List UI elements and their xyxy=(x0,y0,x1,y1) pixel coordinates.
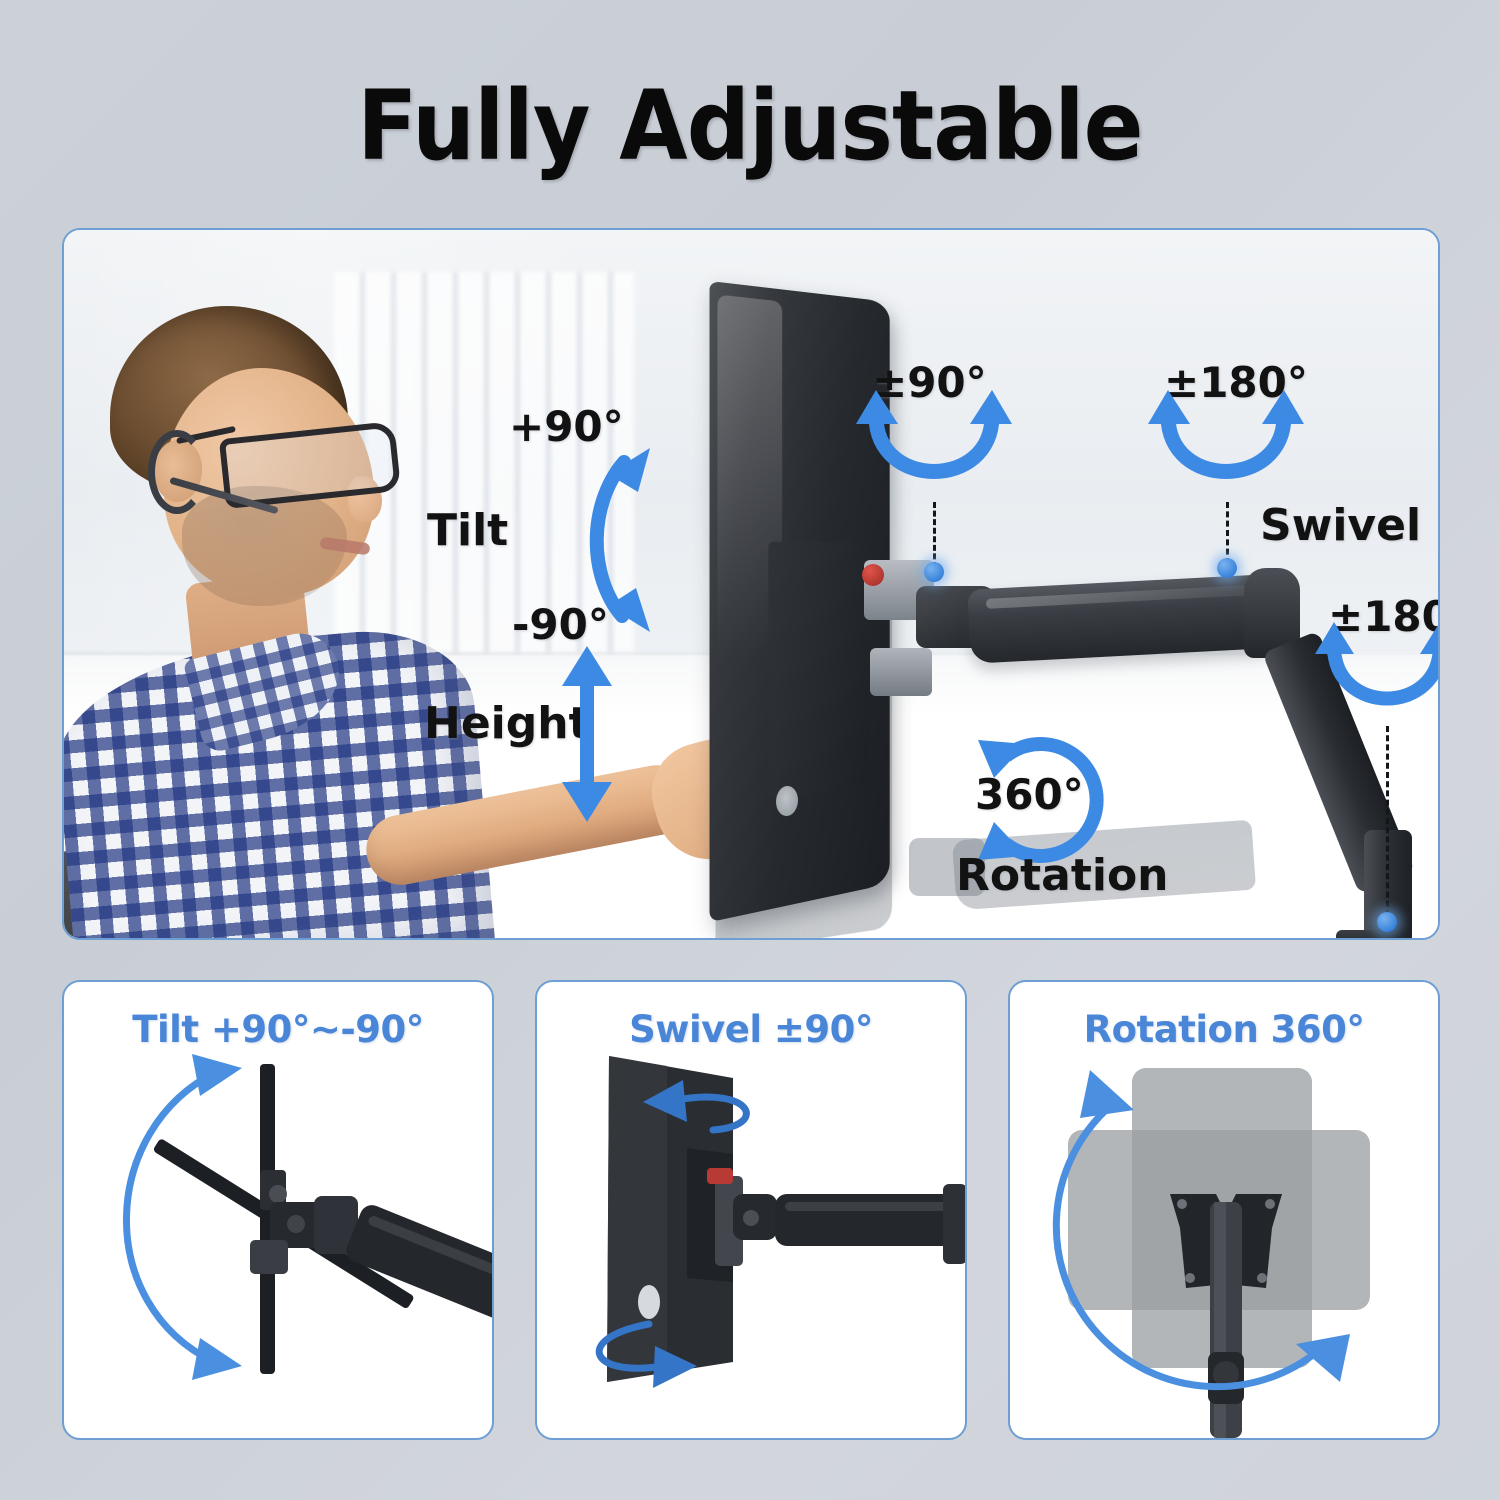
rotation-value: 360° xyxy=(975,770,1084,819)
rotation-label: Rotation xyxy=(956,850,1169,901)
monitor-swivel-joint-dot xyxy=(924,562,944,582)
rotation-diagram xyxy=(1010,1052,1440,1440)
tilt-diagram xyxy=(64,1052,494,1440)
swivel-diagram xyxy=(537,1052,967,1440)
panel-swivel-illustration xyxy=(537,1052,965,1438)
vesa-bracket-lower xyxy=(870,648,932,696)
panel-rotation-illustration xyxy=(1010,1052,1438,1438)
panel-swivel-title: Swivel ±90° xyxy=(537,1008,965,1051)
swivel-label: Swivel xyxy=(1260,500,1421,551)
base-swivel-u-arrow-icon xyxy=(1312,630,1440,736)
monitor-swivel-u-arrow-icon xyxy=(854,398,1014,510)
gas-spring-upper-arm xyxy=(967,574,1270,664)
panel-rotation-title: Rotation 360° xyxy=(1010,1008,1438,1051)
panel-rotation: Rotation 360° xyxy=(1008,980,1440,1440)
monitor-swivel-leader-line xyxy=(933,502,936,568)
panel-tilt: Tilt +90°~-90° xyxy=(62,980,494,1440)
hero-scene: +90° Tilt -90° Height ±90° ±180° xyxy=(64,230,1438,938)
page-title: Fully Adjustable xyxy=(357,78,1142,174)
monitor-back-plate xyxy=(768,542,869,799)
hero-panel: +90° Tilt -90° Height ±90° ±180° xyxy=(62,228,1440,940)
panel-tilt-illustration xyxy=(64,1052,492,1438)
height-double-arrow-icon xyxy=(558,644,618,824)
tilt-label: Tilt xyxy=(427,505,508,556)
arm-swivel-leader-line xyxy=(1226,502,1229,564)
base-swivel-leader-line xyxy=(1386,726,1389,916)
arm-swivel-joint-dot xyxy=(1217,558,1237,578)
panel-tilt-title: Tilt +90°~-90° xyxy=(64,1008,492,1051)
page-title-container: Fully Adjustable xyxy=(0,78,1500,174)
panel-swivel: Swivel ±90° xyxy=(535,980,967,1440)
arm-swivel-u-arrow-icon xyxy=(1146,398,1306,510)
red-release-knob xyxy=(862,564,884,586)
base-swivel-joint-dot xyxy=(1377,912,1397,932)
headset-earloop-icon xyxy=(148,430,206,514)
tilt-arc-arrow-icon xyxy=(564,430,684,650)
